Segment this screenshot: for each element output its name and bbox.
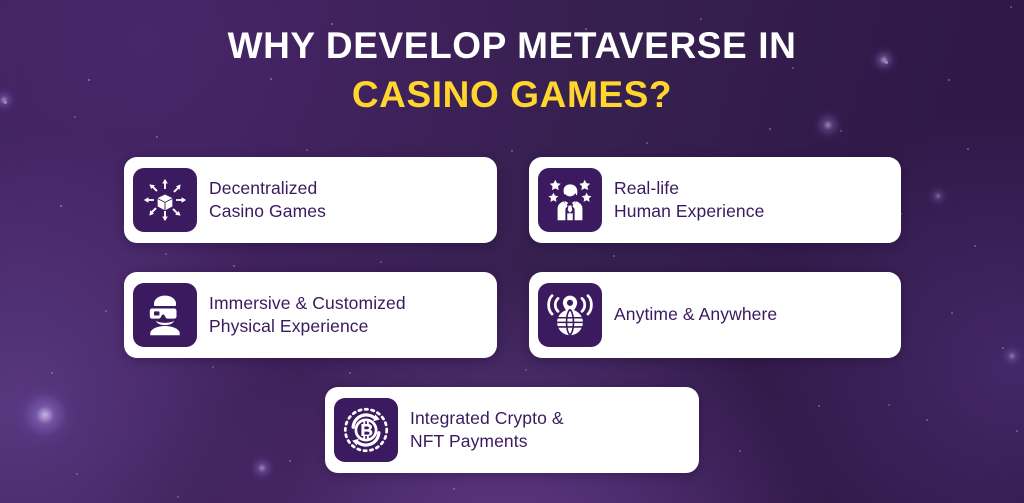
feature-card-decentralized-casino-games[interactable]: Decentralized Casino Games xyxy=(124,157,497,243)
feature-card-label: Real-life Human Experience xyxy=(614,177,764,223)
page-title: WHY DEVELOP METAVERSE IN CASINO GAMES? xyxy=(0,26,1024,115)
vr-headset-person-icon xyxy=(133,283,197,347)
feature-card-label: Anytime & Anywhere xyxy=(614,303,777,326)
title-line-1: WHY DEVELOP METAVERSE IN xyxy=(0,26,1024,66)
person-stars-icon xyxy=(538,168,602,232)
feature-card-label: Decentralized Casino Games xyxy=(209,177,326,223)
feature-card-real-life-human-experience[interactable]: Real-life Human Experience xyxy=(529,157,901,243)
feature-card-anytime-anywhere[interactable]: Anytime & Anywhere xyxy=(529,272,901,358)
bitcoin-exchange-icon xyxy=(334,398,398,462)
feature-card-label: Immersive & Customized Physical Experien… xyxy=(209,292,406,338)
feature-card-immersive-customized-physical-experience[interactable]: Immersive & Customized Physical Experien… xyxy=(124,272,497,358)
globe-signal-pin-icon xyxy=(538,283,602,347)
feature-card-label: Integrated Crypto & NFT Payments xyxy=(410,407,564,453)
feature-card-integrated-crypto-nft-payments[interactable]: Integrated Crypto & NFT Payments xyxy=(325,387,699,473)
decentralized-cube-icon xyxy=(133,168,197,232)
title-line-2: CASINO GAMES? xyxy=(0,75,1024,115)
